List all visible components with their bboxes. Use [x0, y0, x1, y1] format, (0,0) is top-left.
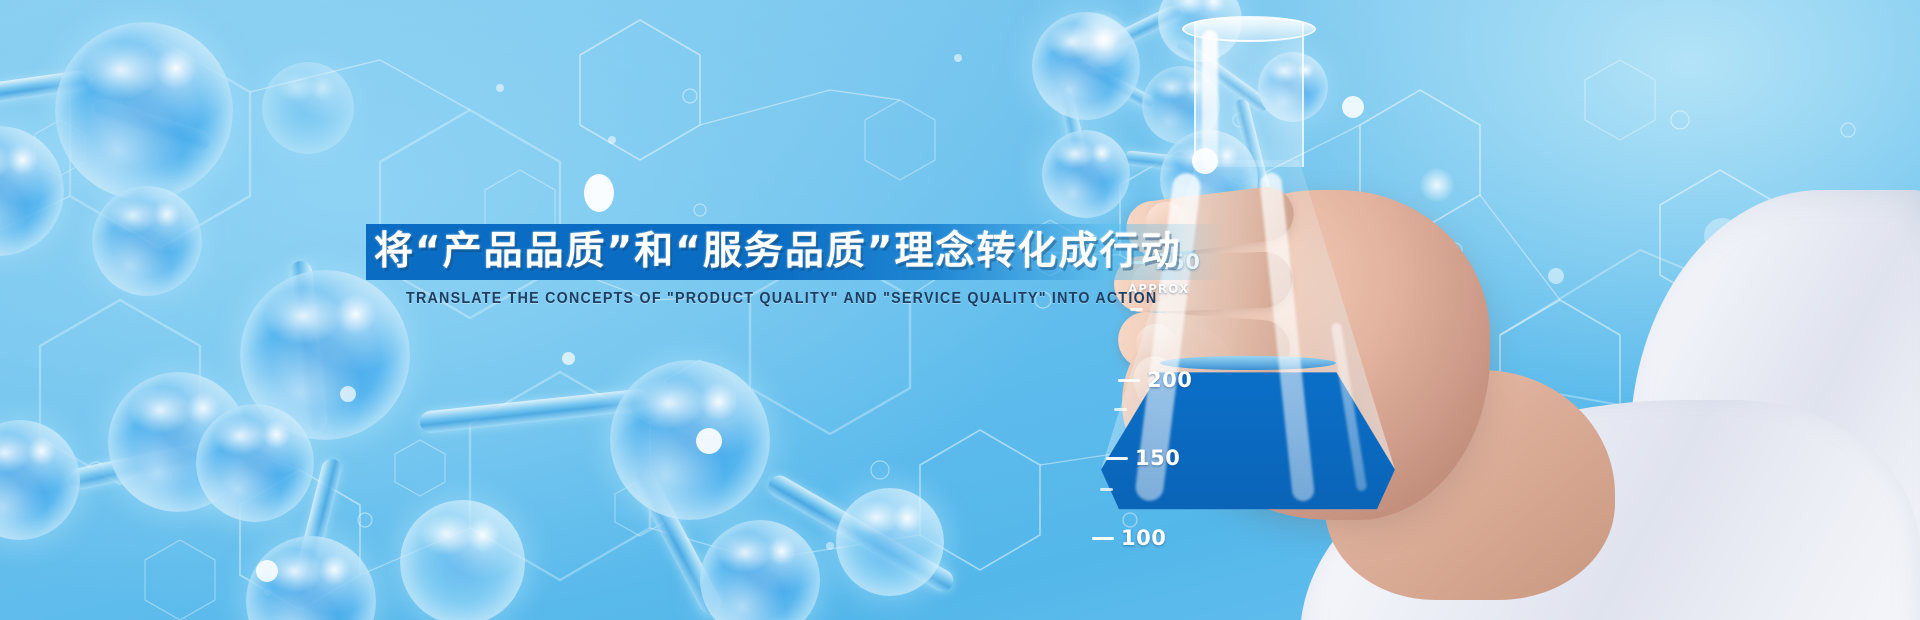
molecule-sphere [108, 372, 248, 512]
bokeh-dot [584, 174, 614, 212]
hero-banner: 250 APPROX 200 150 [0, 0, 1920, 620]
bokeh-dot [256, 560, 278, 582]
molecule-sphere [262, 62, 354, 154]
glass-highlight [1202, 30, 1218, 170]
scale-label: 150 [1135, 446, 1180, 470]
scale-mark [1130, 308, 1143, 311]
glass-highlight [1134, 172, 1202, 503]
molecule-sphere [55, 22, 233, 200]
glass-highlight [1331, 322, 1367, 491]
scale-label: 200 [1147, 368, 1192, 392]
hand [1100, 120, 1570, 560]
bokeh-dot [696, 428, 722, 454]
molecule-sphere [0, 420, 80, 540]
molecule-bond [765, 471, 958, 595]
scale-mark: 150 [1106, 446, 1180, 470]
lab-coat-fold [1380, 450, 1710, 620]
finger [1130, 361, 1293, 441]
lab-coat-shoulder [1300, 400, 1920, 620]
thumb [1122, 325, 1242, 475]
molecule-bond [0, 69, 90, 106]
molecule-bond [290, 457, 343, 598]
molecule-bond [68, 429, 268, 492]
erlenmeyer-flask: 250 APPROX 200 150 [1098, 22, 1428, 542]
scale-tick [1106, 457, 1128, 460]
fingernail [1127, 350, 1185, 413]
fingernail [1150, 380, 1189, 418]
headline-block: 将“产品品质”和“服务品质”理念转化成行动 TRANSLATE THE CONC… [366, 224, 1226, 280]
scale-tick [1100, 488, 1113, 491]
molecule-sphere [836, 488, 944, 596]
scale-label: 100 [1121, 526, 1166, 550]
finger [1116, 310, 1291, 378]
scale-mark: 200 [1118, 368, 1192, 392]
molecule-sphere [246, 536, 376, 620]
scale-tick [1130, 308, 1143, 311]
molecule-sphere [700, 520, 820, 620]
flask-neck [1194, 22, 1304, 167]
molecule-bond [630, 466, 725, 618]
bokeh-dot [340, 386, 356, 402]
molecule-bond [92, 97, 213, 155]
scientist-photo: 250 APPROX 200 150 [1080, 0, 1920, 620]
flask-liquid [1098, 160, 1398, 520]
scale-tick [1092, 537, 1114, 540]
molecule-sphere [196, 404, 314, 522]
glass-highlight [1259, 172, 1315, 502]
scale-mark: 100 [1092, 526, 1166, 550]
bokeh-dot [562, 352, 575, 365]
fingernail [1135, 323, 1176, 362]
headline-text: 将“产品品质”和“服务品质”理念转化成行动 [374, 224, 1182, 280]
molecule-sphere [0, 126, 64, 256]
subheadline-text: TRANSLATE THE CONCEPTS OF "PRODUCT QUALI… [406, 290, 1157, 308]
flask-cone [1098, 160, 1398, 520]
scale-tick [1114, 408, 1127, 411]
flask-rim [1182, 16, 1316, 42]
scale-mark [1100, 488, 1113, 491]
molecule-sphere [610, 360, 770, 520]
molecule-bond [289, 260, 329, 431]
headline-banner-bar: 将“产品品质”和“服务品质”理念转化成行动 [366, 224, 1226, 280]
scale-tick [1118, 379, 1140, 382]
liquid-surface [1160, 356, 1336, 370]
molecule-bond [419, 388, 650, 434]
molecule-sphere [240, 270, 410, 440]
wrist [1325, 370, 1615, 600]
lab-coat-sleeve [1630, 190, 1920, 620]
molecule-sphere [92, 186, 202, 296]
scale-mark [1114, 408, 1127, 411]
molecule-sphere [400, 500, 525, 620]
